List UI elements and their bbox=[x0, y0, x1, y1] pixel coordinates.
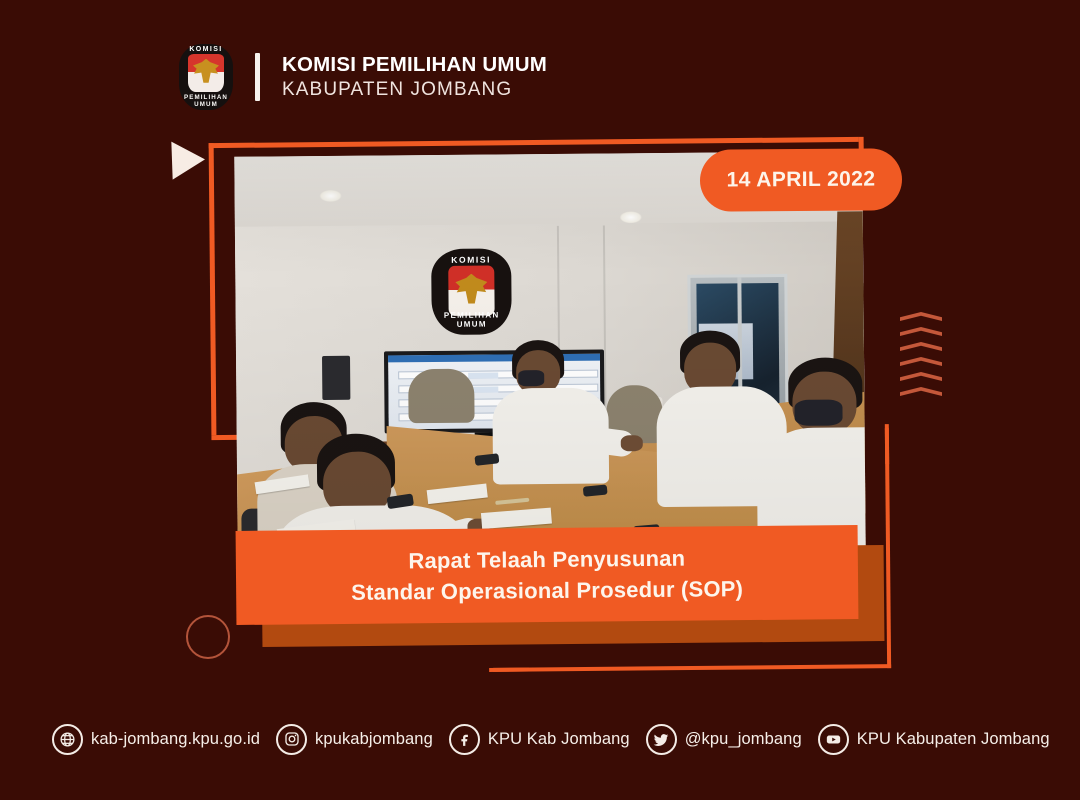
social-youtube[interactable]: KPU Kabupaten Jombang bbox=[818, 724, 1050, 755]
wall-logo-shield bbox=[448, 265, 494, 315]
social-twitter-label: @kpu_jombang bbox=[685, 730, 802, 749]
caption-line-2: Standar Operasional Prosedur (SOP) bbox=[351, 575, 743, 606]
twitter-icon bbox=[646, 724, 677, 755]
instagram-icon bbox=[276, 724, 307, 755]
org-name: KOMISI PEMILIHAN UMUM bbox=[282, 53, 547, 77]
social-facebook[interactable]: KPU Kab Jombang bbox=[449, 724, 630, 755]
poster-canvas: KOMISI PEMILIHAN UMUM KOMISI PEMILIHAN U… bbox=[0, 0, 1080, 800]
date-badge: 14 APRIL 2022 bbox=[700, 148, 902, 211]
org-region: KABUPATEN JOMBANG bbox=[282, 78, 547, 101]
header-text-block: KOMISI PEMILIHAN UMUM KABUPATEN JOMBANG bbox=[282, 53, 547, 101]
social-instagram-label: kpukabjombang bbox=[315, 730, 433, 749]
person-seated bbox=[498, 339, 619, 490]
social-facebook-label: KPU Kab Jombang bbox=[488, 730, 630, 749]
youtube-icon bbox=[818, 724, 849, 755]
social-twitter[interactable]: @kpu_jombang bbox=[646, 724, 802, 755]
social-website-label: kab-jombang.kpu.go.id bbox=[91, 730, 260, 749]
facebook-icon bbox=[449, 724, 480, 755]
globe-icon bbox=[52, 724, 83, 755]
logo-shield-shape bbox=[188, 54, 224, 92]
header-divider bbox=[255, 53, 260, 101]
circle-outline-icon bbox=[186, 615, 230, 659]
social-website[interactable]: kab-jombang.kpu.go.id bbox=[52, 724, 260, 755]
wall-garuda-icon bbox=[455, 274, 487, 304]
logo-bottom-word: PEMILIHAN UMUM bbox=[175, 94, 237, 108]
garuda-icon bbox=[193, 59, 219, 83]
social-youtube-label: KPU Kabupaten Jombang bbox=[857, 730, 1050, 749]
chair bbox=[408, 369, 474, 424]
caption-box: Rapat Telaah Penyusunan Standar Operasio… bbox=[236, 525, 859, 625]
chevron-stack-icon bbox=[900, 312, 942, 402]
wall-kpu-logo: KOMISI PEMILIHAN UMUM bbox=[431, 248, 512, 335]
wall-logo-top-word: KOMISI bbox=[431, 254, 511, 265]
play-triangle-icon bbox=[171, 140, 205, 179]
caption-line-1: Rapat Telaah Penyusunan bbox=[408, 544, 685, 574]
wall-logo-bottom-word: PEMILIHAN UMUM bbox=[432, 310, 512, 329]
footer-social-bar: kab-jombang.kpu.go.id kpukabjombang KPU … bbox=[52, 716, 1042, 762]
logo-top-word: KOMISI bbox=[175, 46, 237, 53]
meeting-room-photo: KOMISI PEMILIHAN UMUM bbox=[234, 151, 865, 556]
social-instagram[interactable]: kpukabjombang bbox=[276, 724, 433, 755]
speaker bbox=[322, 356, 350, 400]
kpu-garuda-logo: KOMISI PEMILIHAN UMUM bbox=[175, 42, 237, 112]
header: KOMISI PEMILIHAN UMUM KOMISI PEMILIHAN U… bbox=[175, 42, 547, 112]
date-badge-label: 14 APRIL 2022 bbox=[727, 167, 876, 192]
photo-scene: KOMISI PEMILIHAN UMUM bbox=[234, 151, 865, 556]
